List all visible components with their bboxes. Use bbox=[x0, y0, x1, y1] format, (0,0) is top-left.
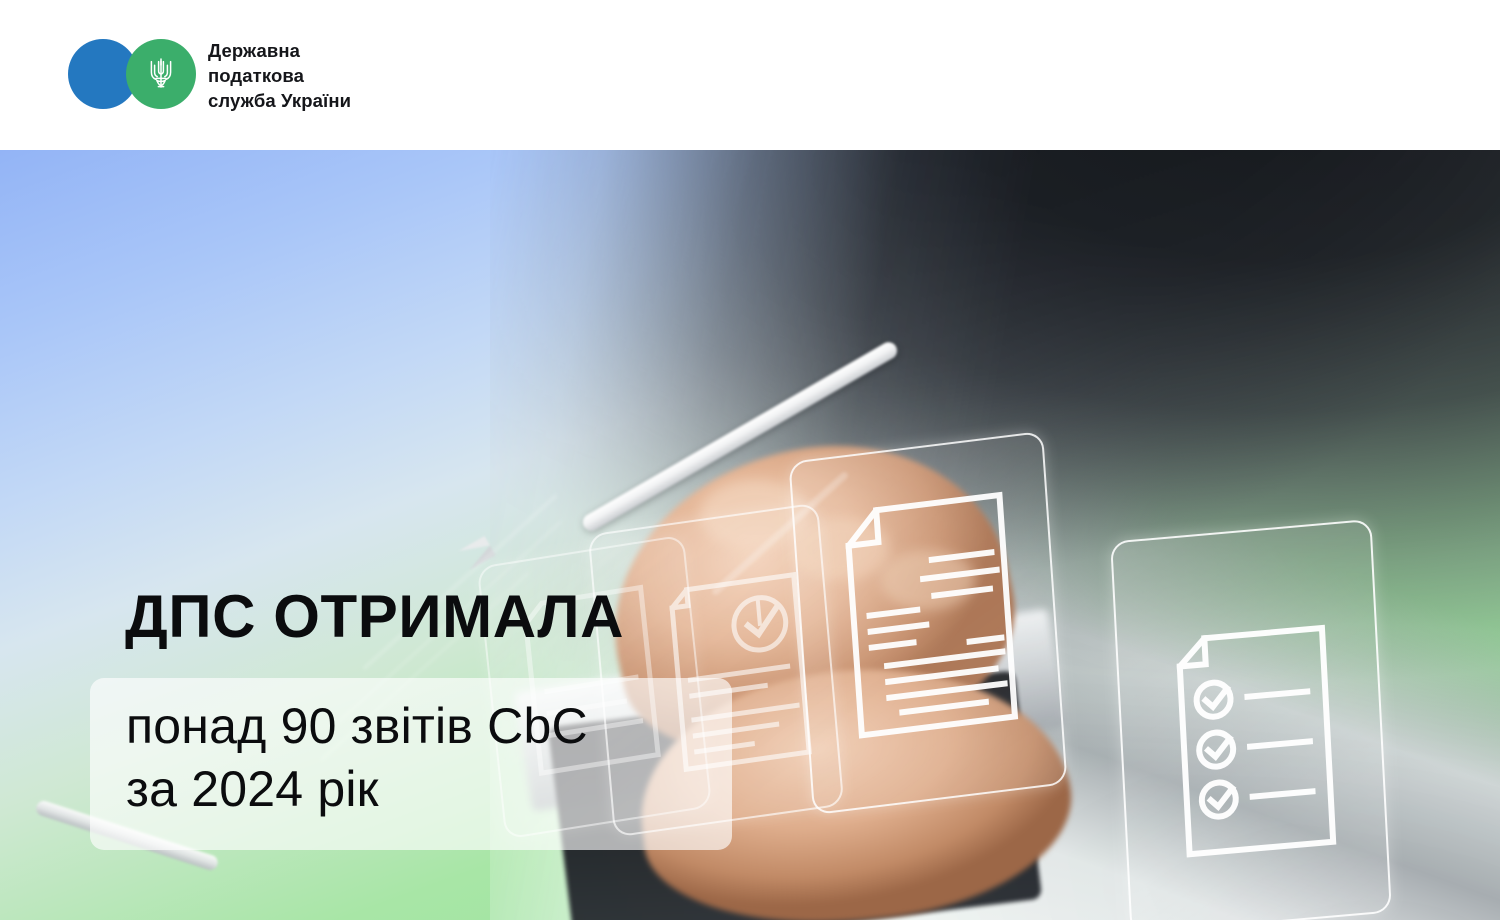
logo-text-line-1: Державна bbox=[208, 38, 351, 63]
site-header: Державна податкова служба України bbox=[0, 0, 1500, 150]
document-folded-corner-icon bbox=[831, 479, 1033, 761]
page-subtitle: понад 90 звітів CbC за 2024 рік bbox=[126, 695, 588, 821]
logo-text-line-2: податкова bbox=[208, 63, 351, 88]
hero-artwork: ДПС ОТРИМАЛА понад 90 звітів CbC за 2024… bbox=[0, 150, 1500, 920]
logo-marks bbox=[68, 39, 196, 113]
checklist-three-checks-icon bbox=[1164, 613, 1352, 878]
ukraine-trident-icon bbox=[146, 55, 176, 93]
promo-banner: Державна податкова служба України bbox=[0, 0, 1500, 920]
dps-logo[interactable]: Державна податкова служба України bbox=[68, 38, 351, 113]
logo-text-line-3: служба України bbox=[208, 88, 351, 113]
green-circle-icon bbox=[126, 39, 196, 109]
logo-wordmark: Державна податкова служба України bbox=[208, 38, 351, 113]
page-title: ДПС ОТРИМАЛА bbox=[125, 587, 624, 647]
